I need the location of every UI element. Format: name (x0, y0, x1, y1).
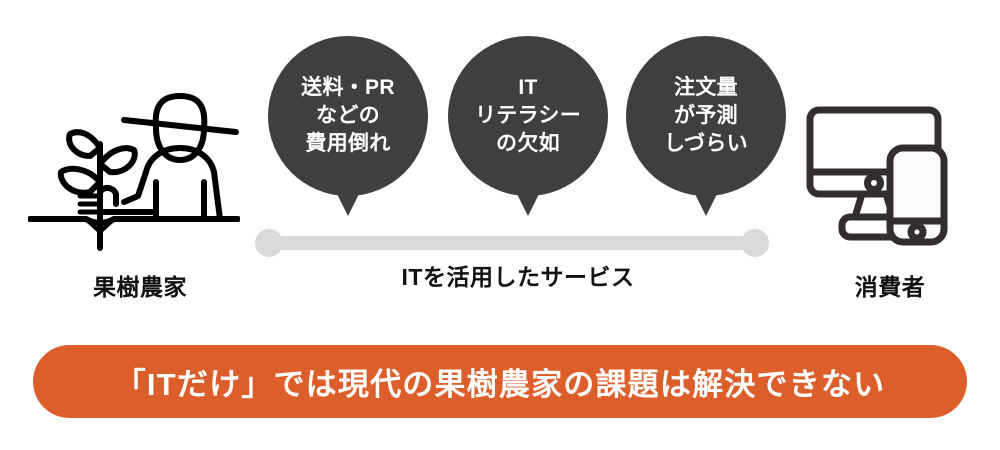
conclusion-banner-text: 「ITだけ」では現代の果樹農家の課題は解決できない (115, 359, 886, 404)
problem-bubble-shipping-pr-cost: 送料・PR などの 費用倒れ (268, 36, 428, 196)
left-actor-label: 果樹農家 (40, 268, 240, 302)
desktop-monitor-and-smartphone-icon (806, 104, 972, 257)
problem-bubble-it-literacy: IT リテラシー の欠如 (448, 36, 608, 196)
right-actor-label: 消費者 (790, 268, 990, 302)
infographic-canvas: 果樹農家 ITを活用したサービス 送料・PR などの 費用倒れ IT リテラシー… (0, 0, 1000, 450)
problem-bubble-text: 注文量 が予測 しづらい (660, 74, 752, 157)
problem-bubble-order-forecast: 注文量 が予測 しづらい (626, 36, 786, 196)
connector-dot-right (741, 229, 769, 257)
conclusion-banner: 「ITだけ」では現代の果樹農家の課題は解決できない (33, 345, 967, 418)
problem-bubble-text: 送料・PR などの 費用倒れ (297, 74, 399, 157)
farmer-with-hat-and-seedling-icon (28, 86, 240, 257)
bubble-tail-icon (693, 190, 719, 216)
connector-label: ITを活用したサービス (270, 258, 766, 292)
bubble-tail-icon (515, 190, 541, 216)
problem-bubble-text: IT リテラシー の欠如 (471, 74, 585, 157)
bubble-tail-icon (335, 190, 361, 216)
connector-bar (268, 236, 768, 250)
